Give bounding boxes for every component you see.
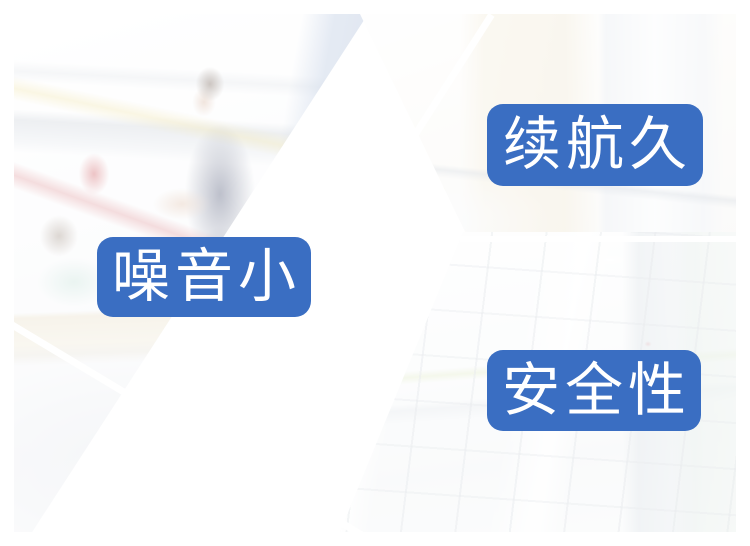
feature-badge-noise: 噪音小 bbox=[97, 237, 311, 317]
feature-banner: 续航久 噪音小 安全性 bbox=[0, 0, 750, 546]
feature-badge-battery: 续航久 bbox=[487, 104, 703, 186]
feature-badge-safety: 安全性 bbox=[487, 350, 701, 431]
